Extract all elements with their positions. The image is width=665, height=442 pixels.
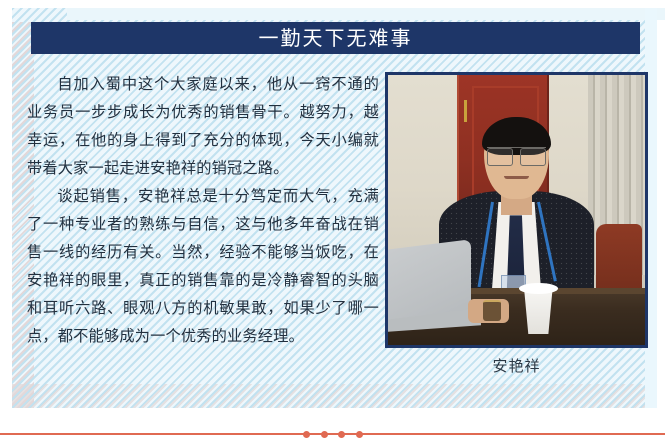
footer-dot — [321, 431, 328, 438]
photo-caption: 安艳祥 — [385, 355, 648, 376]
background-top-strip — [67, 8, 665, 20]
poster-canvas: 一勤天下无难事 自加入蜀中这个大家庭以来，他从一窍不通的业务员一步步成长为优秀的… — [0, 0, 665, 442]
photo-coffee-cup-rim — [519, 283, 558, 294]
footer-dot — [338, 431, 345, 438]
article-body: 自加入蜀中这个大家庭以来，他从一窍不通的业务员一步步成长为优秀的销售骨干。越努力… — [27, 70, 379, 350]
article-paragraph-1: 自加入蜀中这个大家庭以来，他从一窍不通的业务员一步步成长为优秀的销售骨干。越努力… — [27, 70, 379, 182]
footer-dot — [303, 431, 310, 438]
page-title: 一勤天下无难事 — [259, 28, 413, 48]
footer-dot-ornament — [303, 428, 363, 440]
background-bottom-edge-stripes — [12, 384, 653, 408]
photo-glasses-right-lens — [520, 148, 546, 166]
photo-wristwatch — [483, 300, 501, 321]
apple-logo-icon — [414, 280, 430, 298]
article-paragraph-2: 谈起销售，安艳祥总是十分笃定而大气，充满了一种专业者的熟练与自信，这与他多年奋战… — [27, 182, 379, 350]
portrait-photo — [385, 72, 648, 348]
glasses-icon — [487, 147, 546, 164]
footer-dot — [356, 431, 363, 438]
portrait-photo-content — [388, 75, 645, 345]
photo-person-mouth — [504, 176, 530, 179]
photo-glasses-left-lens — [487, 148, 513, 166]
title-bar: 一勤天下无难事 — [31, 22, 640, 54]
photo-door-handle — [464, 100, 467, 122]
